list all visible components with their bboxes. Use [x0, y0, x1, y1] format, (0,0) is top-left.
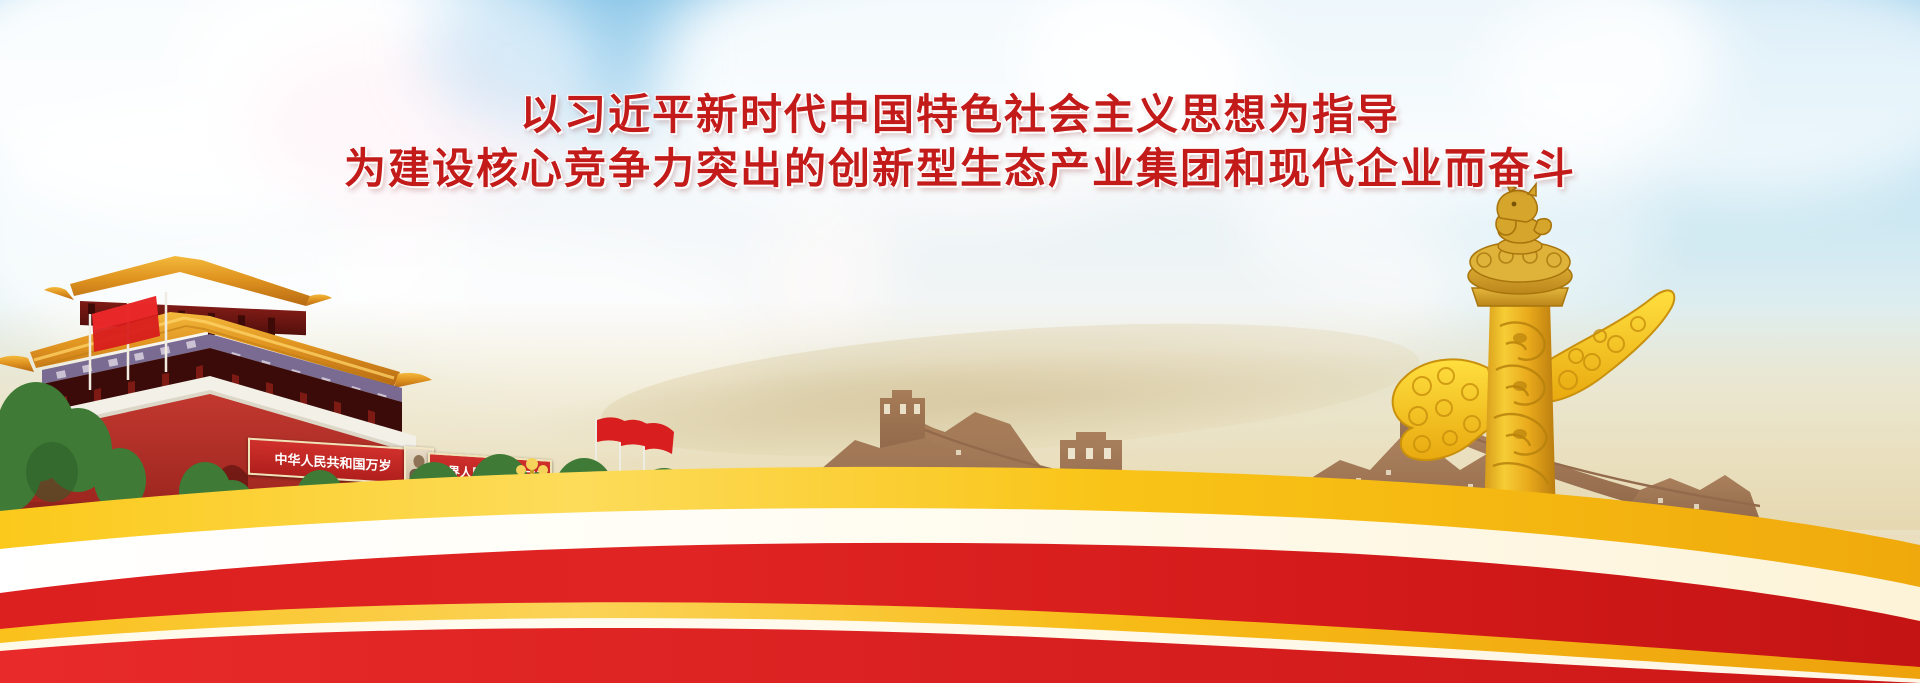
bottom-wave-ribbon — [0, 453, 1920, 683]
patriotic-banner: 中华人民共和国万岁 世界人民大团结万岁 — [0, 0, 1920, 683]
